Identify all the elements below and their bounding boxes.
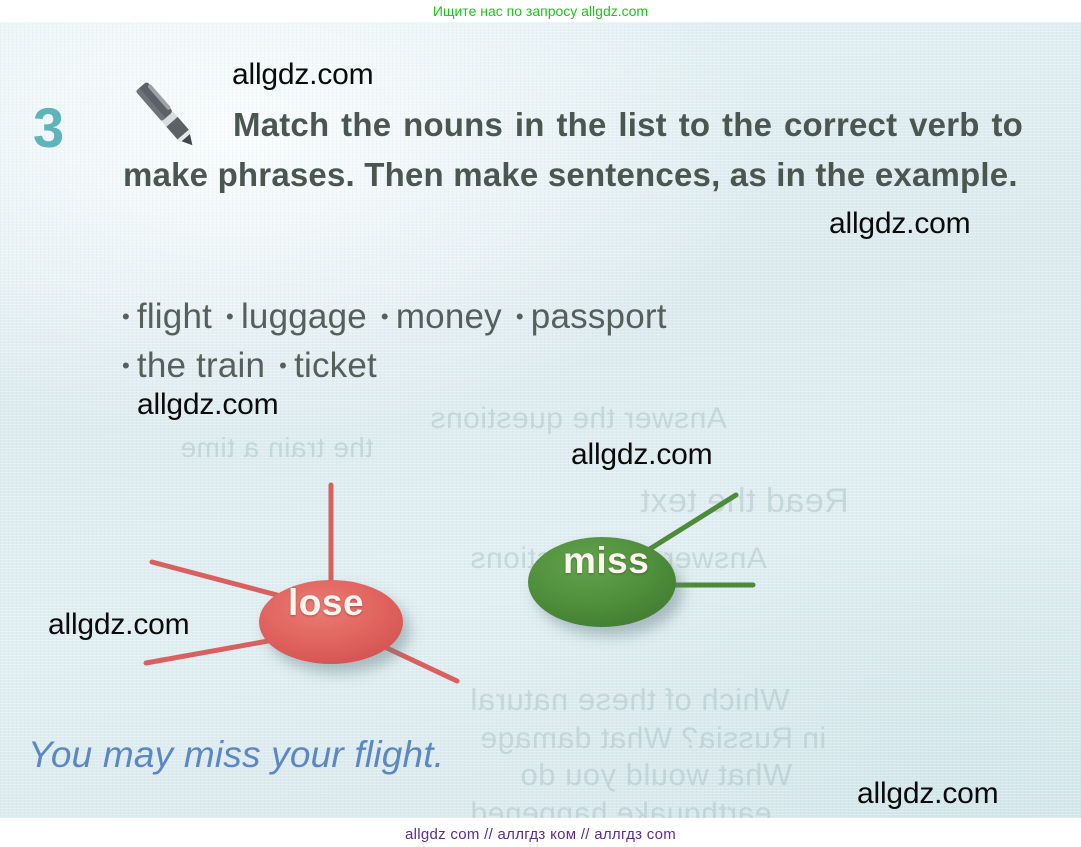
miss-connector-upright [645, 495, 736, 552]
miss-connectors [645, 495, 753, 585]
noun-list-row: •the train•ticket [122, 341, 1002, 390]
site-watermark: allgdz.com [829, 207, 970, 241]
exercise-instruction: Match the nouns in the list to the corre… [123, 100, 1023, 200]
bottom-site-banner: allgdz com // аллгдз ком // аллгдз com [0, 818, 1081, 847]
site-watermark: allgdz.com [232, 58, 373, 92]
bullet-icon: • [122, 304, 130, 329]
noun-list-item: •passport [516, 297, 667, 336]
bullet-icon: • [226, 304, 234, 329]
page-bleedthrough-text: Answer the questions [430, 402, 727, 436]
noun-word-list: •flight•luggage•money•passport•the train… [122, 292, 1002, 390]
noun-list-item-label: the train [137, 346, 265, 385]
scanned-textbook-page: Answer the questionsthe train a timeRead… [0, 22, 1081, 818]
site-watermark: allgdz.com [571, 438, 712, 472]
noun-list-item: •the train [122, 346, 265, 385]
verb-node-lose-label: lose [288, 582, 364, 624]
noun-list-item-label: passport [531, 297, 667, 336]
bullet-icon: • [122, 353, 130, 378]
site-watermark: allgdz.com [137, 388, 278, 422]
noun-list-item: •luggage [226, 297, 367, 336]
bullet-icon: • [279, 353, 287, 378]
bullet-icon: • [516, 304, 524, 329]
verb-node-miss-label: miss [563, 540, 649, 582]
page-bleedthrough-text: Read the text [640, 482, 849, 521]
page-bleedthrough-text: What would you do [520, 757, 792, 793]
noun-list-row: •flight•luggage•money•passport [122, 292, 1002, 341]
noun-list-item: •money [381, 297, 502, 336]
site-watermark: allgdz.com [857, 777, 998, 811]
exercise-number: 3 [33, 100, 64, 156]
noun-list-item-label: luggage [241, 297, 367, 336]
example-sentence: You may miss your flight. [28, 734, 444, 776]
site-watermark: allgdz.com [48, 608, 189, 642]
page-bleedthrough-text: in Russia? What damage [480, 722, 826, 756]
verb-node-lose [259, 580, 403, 664]
top-site-banner: Ищите нас по запросу allgdz.com [0, 0, 1081, 22]
page-bleedthrough-text: earthquake happened [470, 797, 771, 818]
verb-node-miss [528, 537, 676, 627]
noun-list-item-label: flight [137, 297, 212, 336]
page-bleedthrough-text: Which of these natural [470, 682, 789, 718]
noun-list-item: •ticket [279, 346, 377, 385]
page-bleedthrough-text: Answer the questions [470, 542, 767, 576]
noun-list-item-label: money [396, 297, 502, 336]
bullet-icon: • [381, 304, 389, 329]
noun-list-item-label: ticket [294, 346, 377, 385]
lose-connector-upleft [152, 562, 330, 609]
lose-connector-downright [372, 641, 457, 681]
lose-connectors [146, 485, 457, 681]
screenshot-root: Ищите нас по запросу allgdz.com Answer t… [0, 0, 1081, 847]
noun-list-item: •flight [122, 297, 212, 336]
page-bleedthrough-text: the train a time [180, 432, 373, 464]
